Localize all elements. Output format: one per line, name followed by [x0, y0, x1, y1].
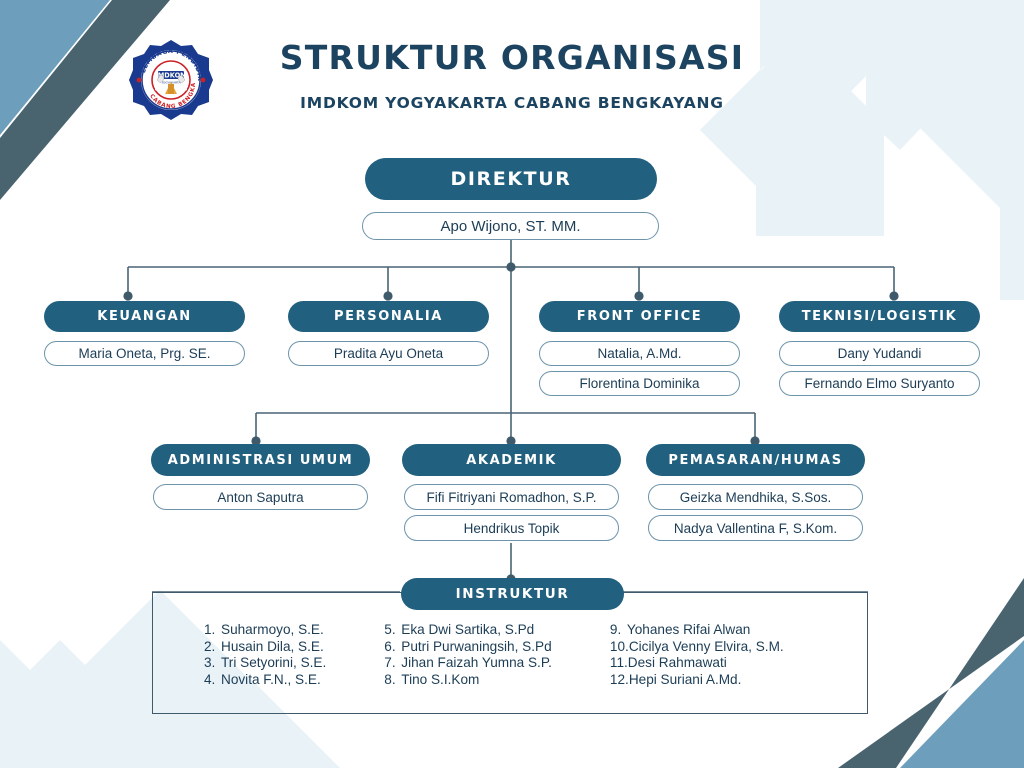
node-keuangan-title[interactable]: KEUANGAN: [44, 301, 245, 332]
list-item: 9.Yohanes Rifai Alwan: [610, 622, 784, 639]
instruktur-name: Eka Dwi Sartika, S.Pd: [401, 622, 534, 637]
node-direktur-name-0[interactable]: Apo Wijono, ST. MM.: [362, 212, 659, 240]
list-item: 11.Desi Rahmawati: [610, 655, 784, 672]
instruktur-name: Jihan Faizah Yumna S.P.: [401, 655, 552, 670]
instruktur-num: 3.: [204, 655, 221, 672]
instruktur-name: Cicilya Venny Elvira, S.M.: [629, 639, 784, 654]
node-administrasi-umum-title[interactable]: ADMINISTRASI UMUM: [151, 444, 370, 476]
node-direktur-title[interactable]: DIREKTUR: [365, 158, 657, 200]
instruktur-num: 2.: [204, 639, 221, 656]
node-personalia-name-0[interactable]: Pradita Ayu Oneta: [288, 341, 489, 366]
list-item: 10.Cicilya Venny Elvira, S.M.: [610, 639, 784, 656]
node-instruktur-title[interactable]: INSTRUKTUR: [401, 578, 624, 610]
list-item: 2.Husain Dila, S.E.: [204, 639, 326, 656]
node-keuangan-name-0[interactable]: Maria Oneta, Prg. SE.: [44, 341, 245, 366]
instruktur-column-2: 5.Eka Dwi Sartika, S.Pd 6.Putri Purwanin…: [384, 622, 552, 702]
node-administrasi-umum-name-0[interactable]: Anton Saputra: [153, 484, 368, 510]
list-item: 7.Jihan Faizah Yumna S.P.: [384, 655, 552, 672]
instruktur-num: 6.: [384, 639, 401, 656]
instruktur-num: 9.: [610, 622, 627, 639]
instruktur-column-1: 1.Suharmoyo, S.E. 2.Husain Dila, S.E. 3.…: [204, 622, 326, 702]
instruktur-column-3: 9.Yohanes Rifai Alwan 10.Cicilya Venny E…: [610, 622, 784, 702]
instruktur-num: 5.: [384, 622, 401, 639]
list-item: 6.Putri Purwaningsih, S.Pd: [384, 639, 552, 656]
instruktur-num: 11.: [610, 655, 628, 672]
list-item: 5.Eka Dwi Sartika, S.Pd: [384, 622, 552, 639]
org-chart-poster: LEMBAGA PENDIDIKAN VOKASI CABANG BENGKAY…: [0, 0, 1024, 768]
node-akademik-name-1[interactable]: Hendrikus Topik: [404, 515, 619, 541]
node-teknisi-logistik-name-1[interactable]: Fernando Elmo Suryanto: [779, 371, 980, 396]
instruktur-num: 10.: [610, 639, 629, 656]
node-front-office-name-1[interactable]: Florentina Dominika: [539, 371, 740, 396]
node-pemasaran-humas-title[interactable]: PEMASARAN/HUMAS: [646, 444, 865, 476]
node-pemasaran-humas-name-0[interactable]: Geizka Mendhika, S.Sos.: [648, 484, 863, 510]
instruktur-name: Tino S.I.Kom: [401, 672, 479, 687]
node-akademik-name-0[interactable]: Fifi Fitriyani Romadhon, S.P.: [404, 484, 619, 510]
node-personalia-title[interactable]: PERSONALIA: [288, 301, 489, 332]
node-teknisi-logistik-title[interactable]: TEKNISI/LOGISTIK: [779, 301, 980, 332]
instruktur-name: Novita F.N., S.E.: [221, 672, 321, 687]
instruktur-num: 12.: [610, 672, 629, 689]
node-front-office-name-0[interactable]: Natalia, A.Md.: [539, 341, 740, 366]
instruktur-name: Yohanes Rifai Alwan: [627, 622, 750, 637]
list-item: 8.Tino S.I.Kom: [384, 672, 552, 689]
list-item: 4.Novita F.N., S.E.: [204, 672, 326, 689]
instruktur-name: Putri Purwaningsih, S.Pd: [401, 639, 551, 654]
node-teknisi-logistik-name-0[interactable]: Dany Yudandi: [779, 341, 980, 366]
list-item: 12.Hepi Suriani A.Md.: [610, 672, 784, 689]
instruktur-name: Suharmoyo, S.E.: [221, 622, 324, 637]
instruktur-name: Hepi Suriani A.Md.: [629, 672, 742, 687]
instruktur-num: 8.: [384, 672, 401, 689]
instruktur-name: Desi Rahmawati: [628, 655, 727, 670]
list-item: 1.Suharmoyo, S.E.: [204, 622, 326, 639]
node-pemasaran-humas-name-1[interactable]: Nadya Vallentina F, S.Kom.: [648, 515, 863, 541]
instruktur-num: 1.: [204, 622, 221, 639]
node-front-office-title[interactable]: FRONT OFFICE: [539, 301, 740, 332]
node-akademik-title[interactable]: AKADEMIK: [402, 444, 621, 476]
list-item: 3.Tri Setyorini, S.E.: [204, 655, 326, 672]
instruktur-name-columns: 1.Suharmoyo, S.E. 2.Husain Dila, S.E. 3.…: [152, 622, 868, 702]
instruktur-name: Husain Dila, S.E.: [221, 639, 324, 654]
instruktur-num: 7.: [384, 655, 401, 672]
instruktur-num: 4.: [204, 672, 221, 689]
instruktur-name: Tri Setyorini, S.E.: [221, 655, 326, 670]
